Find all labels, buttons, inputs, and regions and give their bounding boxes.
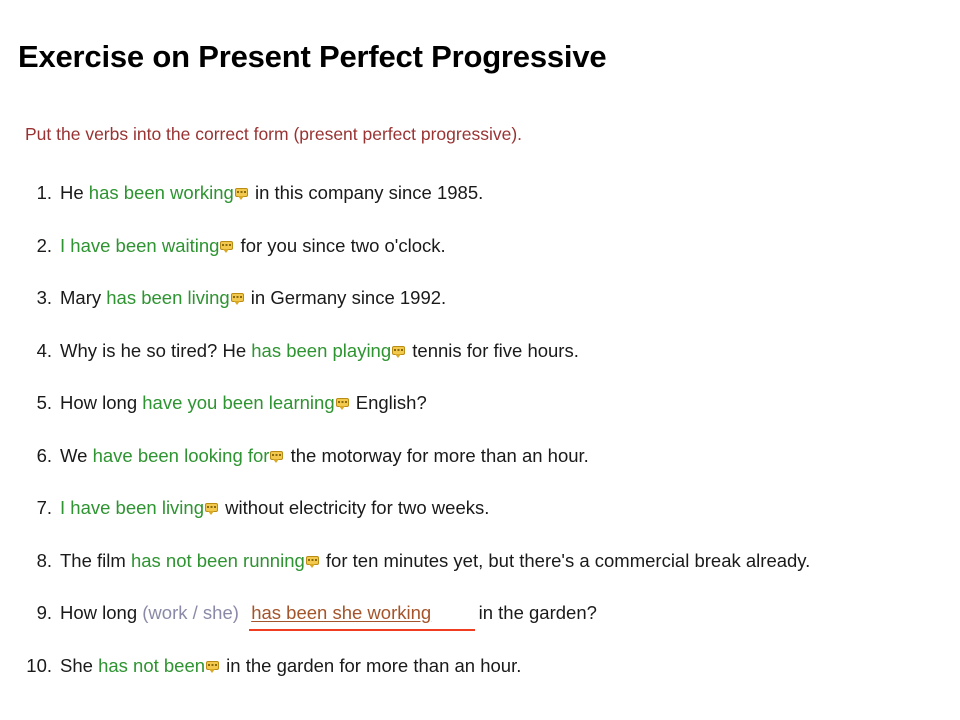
- item-body: Why is he so tired? He has been playing …: [60, 340, 579, 362]
- text-before: How long: [60, 602, 142, 623]
- text-after: in the garden?: [479, 602, 597, 623]
- item-body: I have been waiting for you since two o'…: [60, 235, 446, 257]
- instruction-text: Put the verbs into the correct form (pre…: [25, 124, 522, 145]
- answer-text: has been living: [106, 287, 229, 308]
- text-before: She: [60, 655, 98, 676]
- exercise-item-5: 5. How long have you been learning Engli…: [0, 392, 960, 445]
- speech-bubble-icon[interactable]: [206, 661, 219, 673]
- text-before: We: [60, 445, 93, 466]
- text-after: tennis for five hours.: [407, 340, 579, 361]
- speech-bubble-icon[interactable]: [220, 241, 233, 253]
- answer-text: I have been living: [60, 497, 204, 518]
- item-body: How long have you been learning English?: [60, 392, 427, 414]
- speech-bubble-icon[interactable]: [270, 451, 283, 463]
- answer-text: has not been: [98, 655, 205, 676]
- exercise-item-6: 6. We have been looking for the motorway…: [0, 445, 960, 498]
- exercise-item-9: 9. How long (work / she) has been she wo…: [0, 602, 960, 655]
- item-number: 9.: [0, 602, 52, 624]
- text-before: The film: [60, 550, 131, 571]
- text-after: for ten minutes yet, but there's a comme…: [321, 550, 811, 571]
- spacer: [463, 602, 478, 623]
- exercise-item-7: 7. I have been living without electricit…: [0, 497, 960, 550]
- item-body: The film has not been running for ten mi…: [60, 550, 810, 572]
- item-body: She has not been in the garden for more …: [60, 655, 521, 677]
- item-number: 2.: [0, 235, 52, 257]
- text-after: in Germany since 1992.: [246, 287, 447, 308]
- speech-bubble-icon[interactable]: [231, 293, 244, 305]
- item-body: How long (work / she) has been she worki…: [60, 602, 597, 624]
- spacer: [239, 602, 249, 623]
- item-number: 7.: [0, 497, 52, 519]
- answer-text: has been working: [89, 182, 234, 203]
- speech-bubble-icon[interactable]: [205, 503, 218, 515]
- exercise-item-10: 10. She has not been in the garden for m…: [0, 655, 960, 708]
- answer-text: has not been running: [131, 550, 305, 571]
- text-after: in this company since 1985.: [250, 182, 483, 203]
- text-before: He: [60, 182, 89, 203]
- item-number: 8.: [0, 550, 52, 572]
- item-number: 6.: [0, 445, 52, 467]
- answer-text: has been playing: [251, 340, 391, 361]
- text-before: Mary: [60, 287, 106, 308]
- text-after: the motorway for more than an hour.: [285, 445, 588, 466]
- item-number: 1.: [0, 182, 52, 204]
- item-body: We have been looking for the motorway fo…: [60, 445, 589, 467]
- exercise-list: 1. He has been working in this company s…: [0, 182, 960, 707]
- item-number: 10.: [0, 655, 52, 677]
- speech-bubble-icon[interactable]: [235, 188, 248, 200]
- item-body: I have been living without electricity f…: [60, 497, 489, 519]
- exercise-item-2: 2. I have been waiting for you since two…: [0, 235, 960, 288]
- item-number: 3.: [0, 287, 52, 309]
- exercise-item-3: 3. Mary has been living in Germany since…: [0, 287, 960, 340]
- text-after: English?: [351, 392, 427, 413]
- item-number: 4.: [0, 340, 52, 362]
- text-before: Why is he so tired? He: [60, 340, 251, 361]
- answer-text: have been looking for: [93, 445, 270, 466]
- exercise-item-1: 1. He has been working in this company s…: [0, 182, 960, 235]
- exercise-page: Exercise on Present Perfect Progressive …: [0, 0, 960, 720]
- exercise-item-8: 8. The film has not been running for ten…: [0, 550, 960, 603]
- answer-text: have you been learning: [142, 392, 334, 413]
- item-number: 5.: [0, 392, 52, 414]
- text-before: How long: [60, 392, 142, 413]
- text-after: for you since two o'clock.: [235, 235, 445, 256]
- item-body: Mary has been living in Germany since 19…: [60, 287, 446, 309]
- text-after: in the garden for more than an hour.: [221, 655, 521, 676]
- speech-bubble-icon[interactable]: [336, 398, 349, 410]
- exercise-item-4: 4. Why is he so tired? He has been playi…: [0, 340, 960, 393]
- answer-text: I have been waiting: [60, 235, 219, 256]
- answer-input-9[interactable]: has been she working: [249, 602, 463, 624]
- page-title: Exercise on Present Perfect Progressive: [18, 39, 606, 75]
- speech-bubble-icon[interactable]: [306, 556, 319, 568]
- item-body: He has been working in this company sinc…: [60, 182, 483, 204]
- verb-prompt: (work / she): [142, 602, 239, 623]
- speech-bubble-icon[interactable]: [392, 346, 405, 358]
- text-after: without electricity for two weeks.: [220, 497, 489, 518]
